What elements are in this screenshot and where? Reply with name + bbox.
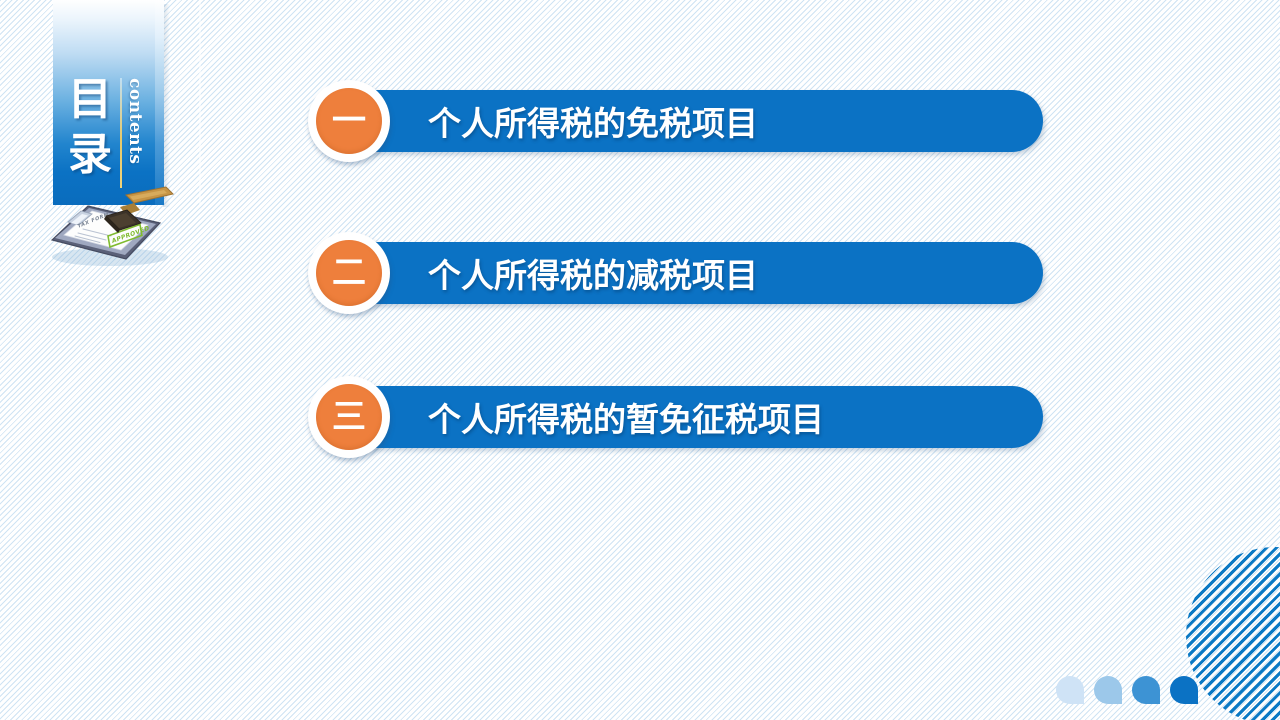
ribbon-title-cn: 目录: [68, 72, 124, 182]
agenda-number-2: 二: [316, 240, 382, 306]
agenda-label-3: 个人所得税的暂免征税项目: [428, 393, 824, 441]
agenda-number-1: 一: [316, 88, 382, 154]
ribbon-right-edge: [155, 0, 164, 205]
slide-canvas: 目录 contents TAX FORM: [0, 0, 1280, 720]
teardrop-dot-1: [1056, 676, 1084, 704]
tax-form-clipboard-stamp-icon: TAX FORM APPROVED: [48, 183, 183, 268]
agenda-item-1[interactable]: 一 个人所得税的免税项目: [310, 90, 1043, 152]
agenda-number-badge-1: 一: [308, 80, 390, 162]
agenda-number-badge-3: 三: [308, 376, 390, 458]
teardrop-dot-3: [1132, 676, 1160, 704]
teardrop-dots-group: [1056, 676, 1198, 704]
teardrop-dot-4: [1170, 676, 1198, 704]
agenda-item-2[interactable]: 二 个人所得税的减税项目: [310, 242, 1043, 304]
agenda-label-1: 个人所得税的免税项目: [428, 97, 758, 145]
agenda-number-badge-2: 二: [308, 232, 390, 314]
agenda-label-2: 个人所得税的减税项目: [428, 249, 758, 297]
ribbon-vertical-rule: [120, 78, 122, 188]
agenda-number-3: 三: [316, 384, 382, 450]
ribbon-title-en-group: contents: [120, 78, 150, 188]
ribbon-title-en: contents: [125, 78, 145, 165]
striped-circle-decoration: [1186, 547, 1280, 720]
teardrop-dot-2: [1094, 676, 1122, 704]
agenda-item-3[interactable]: 三 个人所得税的暂免征税项目: [310, 386, 1043, 448]
ribbon-highlight-line: [199, 0, 201, 205]
ribbon-shadow: [163, 4, 170, 207]
